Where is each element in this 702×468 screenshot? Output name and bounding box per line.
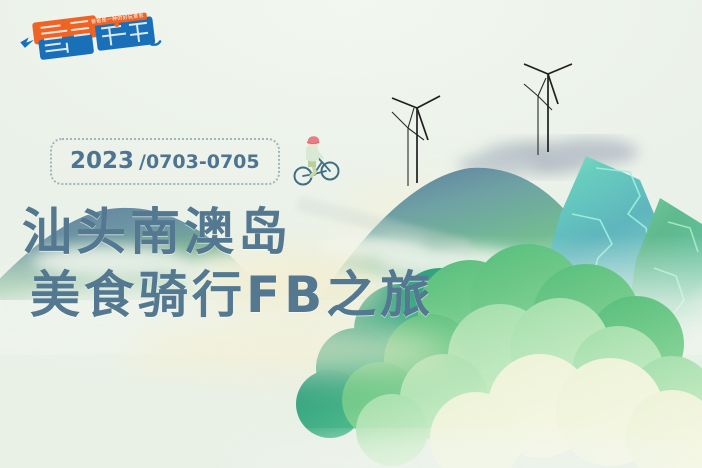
wind-turbine-right-large [524, 64, 572, 152]
date-year: 2023 [70, 148, 134, 174]
headline-line-1: 汕头南澳岛 [22, 203, 434, 262]
brand-logo[interactable]: 爸爸是一种的好玩意思 [14, 8, 164, 60]
headline-line-2: 美食骑行FB之旅 [30, 266, 434, 325]
page-title: 汕头南澳岛 美食骑行FB之旅 [22, 203, 434, 324]
wind-turbine-left-small [392, 108, 424, 186]
travel-poster: 爸爸是一种的好玩意思 2023 /0703-0705 汕头南澳岛 美食骑行FB之… [0, 0, 702, 468]
wind-turbine-left-large [392, 96, 440, 183]
date-badge: 2023 /0703-0705 [50, 138, 280, 185]
cyclist-icon [292, 134, 344, 188]
date-range: /0703-0705 [139, 151, 260, 173]
